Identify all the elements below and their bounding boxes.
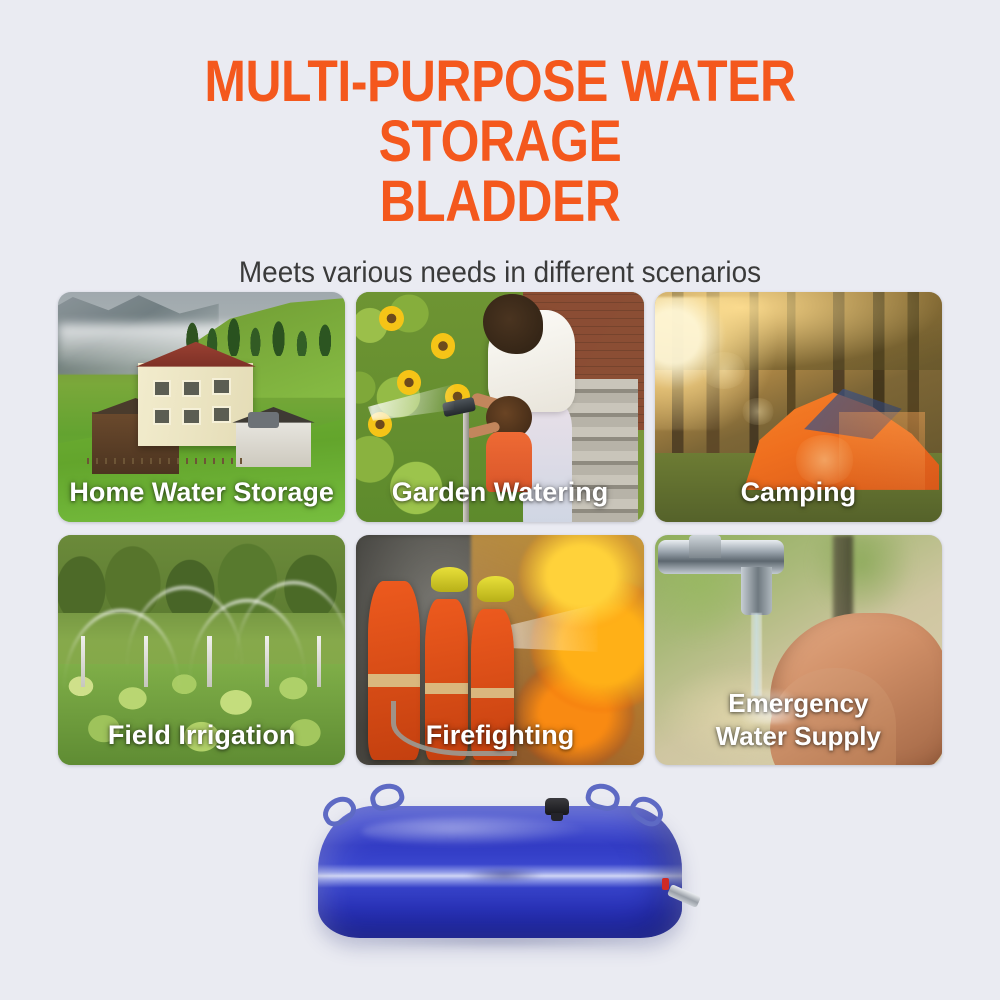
scenario-card-emergency-water-supply[interactable]: Emergency Water Supply bbox=[655, 535, 942, 765]
scenario-card-label: Garden Watering bbox=[356, 476, 643, 508]
scenario-card-label: Home Water Storage bbox=[58, 476, 345, 508]
scenario-card-label: Emergency Water Supply bbox=[655, 687, 942, 753]
scenario-card-label: Field Irrigation bbox=[58, 719, 345, 751]
scenario-card-firefighting[interactable]: Firefighting bbox=[356, 535, 643, 765]
scenario-card-garden-watering[interactable]: Garden Watering bbox=[356, 292, 643, 522]
page-title: MULTI-PURPOSE WATER STORAGE BLADDER bbox=[70, 52, 930, 232]
page-subtitle: Meets various needs in different scenari… bbox=[35, 256, 965, 290]
scenario-card-field-irrigation[interactable]: Field Irrigation bbox=[58, 535, 345, 765]
scenario-card-camping[interactable]: Camping bbox=[655, 292, 942, 522]
scenario-card-label: Firefighting bbox=[356, 719, 643, 751]
scenario-card-label: Camping bbox=[655, 476, 942, 508]
fold-crease bbox=[464, 867, 544, 883]
header: MULTI-PURPOSE WATER STORAGE BLADDER Meet… bbox=[0, 0, 1000, 290]
scenario-card-home-water-storage[interactable]: Home Water Storage bbox=[58, 292, 345, 522]
valve-seal bbox=[662, 878, 669, 890]
scenario-grid: Home Water Storage Garden Watering bbox=[58, 292, 942, 765]
product-image bbox=[296, 782, 704, 950]
water-bladder-body bbox=[318, 806, 682, 938]
fill-cap-icon bbox=[545, 798, 569, 815]
